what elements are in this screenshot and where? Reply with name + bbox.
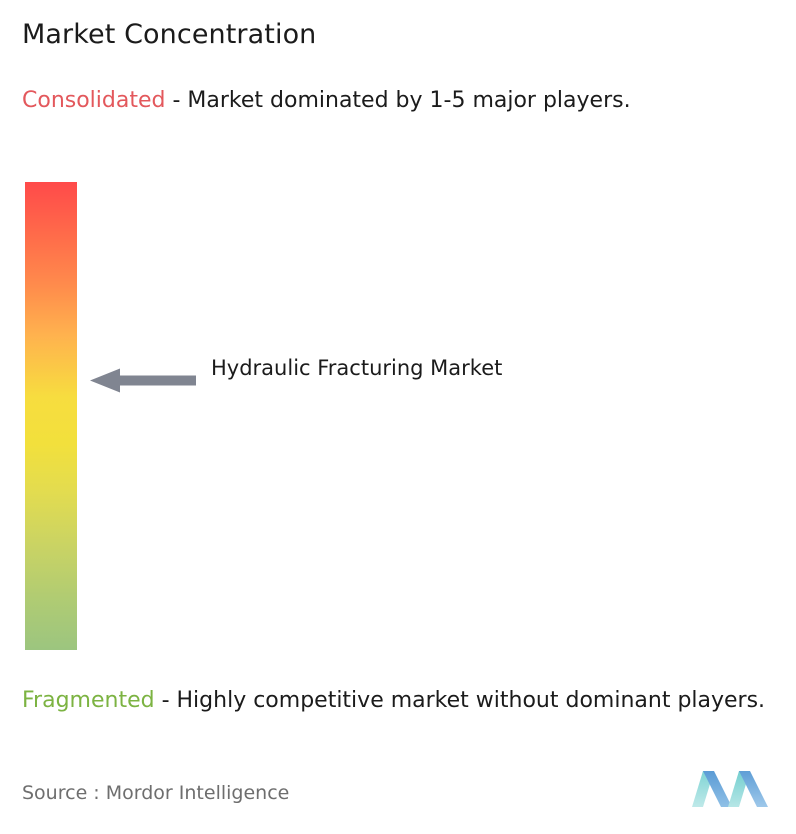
source-name: Mordor Intelligence <box>106 782 290 804</box>
concentration-gradient-bar <box>25 182 77 650</box>
mordor-intelligence-logo <box>692 769 768 809</box>
legend-fragmented-keyword: Fragmented <box>22 688 155 713</box>
source-label: Source : <box>22 782 100 804</box>
legend-fragmented-description: - Highly competitive market without domi… <box>155 688 765 713</box>
market-concentration-figure: Market Concentration Consolidated - Mark… <box>0 0 796 834</box>
arrow-left-icon <box>90 368 196 393</box>
source-line: Source : Mordor Intelligence <box>22 780 289 806</box>
legend-consolidated: Consolidated - Market dominated by 1-5 m… <box>22 85 774 116</box>
legend-consolidated-keyword: Consolidated <box>22 88 165 113</box>
legend-consolidated-description: - Market dominated by 1-5 major players. <box>165 88 630 113</box>
page-title: Market Concentration <box>22 18 316 52</box>
callout-label: Hydraulic Fracturing Market <box>211 350 541 386</box>
legend-fragmented: Fragmented - Highly competitive market w… <box>22 685 784 716</box>
